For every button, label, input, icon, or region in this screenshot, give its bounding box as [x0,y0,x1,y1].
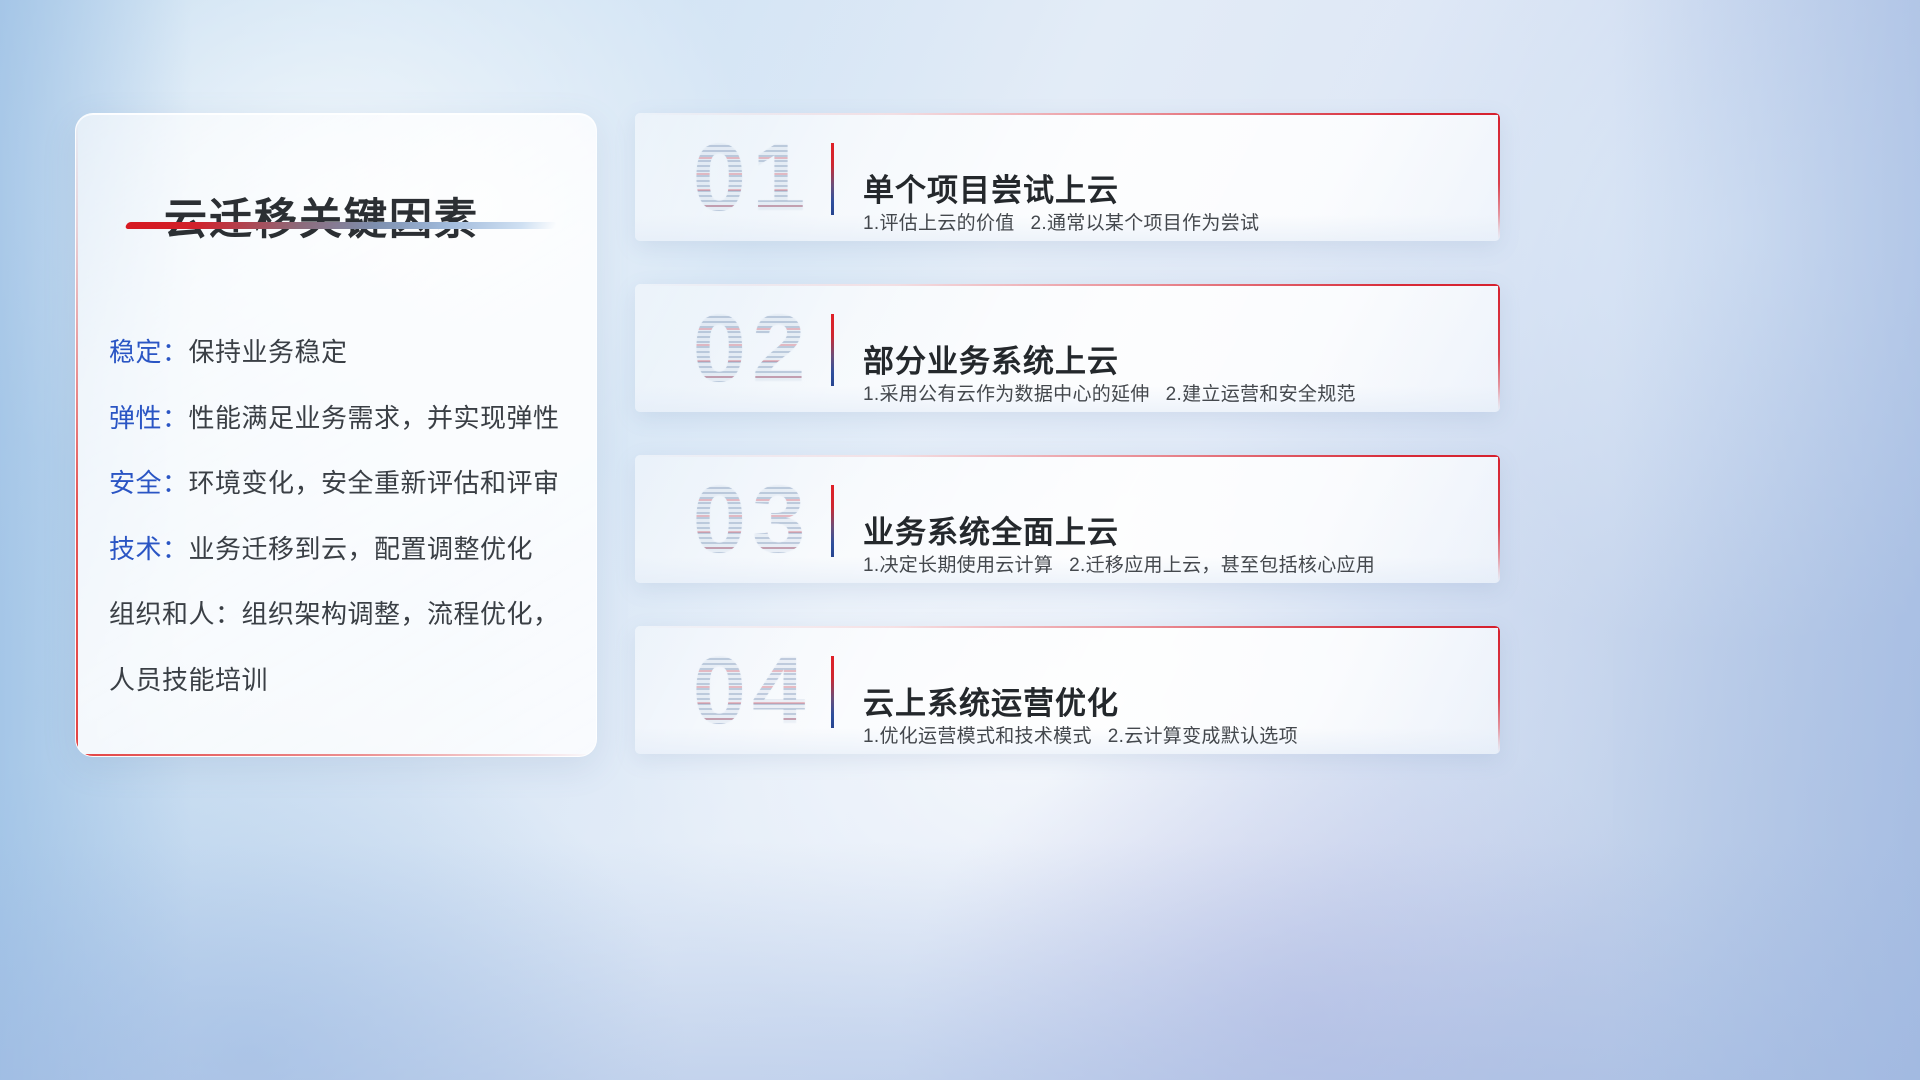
card-accent-bar [831,656,834,728]
list-item-value: 业务迁移到云，配置调整优化 [189,534,534,564]
card-description: 1.采用公有云作为数据中心的延伸2.建立运营和安全规范 [863,379,1356,406]
list-item: 技术：业务迁移到云，配置调整优化 [109,533,576,566]
card-description: 1.评估上云的价值2.通常以某个项目作为尝试 [863,208,1259,235]
stage-card[interactable]: 01 01 01 单个项目尝试上云 1.评估上云的价值2.通常以某个项目作为尝试 [635,113,1500,241]
panel-left-red-edge [76,114,78,756]
stage-card[interactable]: 03 03 03 业务系统全面上云 1.决定长期使用云计算2.迁移应用上云，甚至… [635,455,1500,583]
card-top-red-edge [635,113,1500,115]
card-number-red-accent: 04 [657,638,847,744]
list-item: 弹性：性能满足业务需求，并实现弹性 [109,402,576,435]
card-title: 部分业务系统上云 [863,336,1119,381]
card-top-red-edge [635,626,1500,628]
card-number-red-accent: 01 [657,125,847,231]
list-item-key: 技术： [109,534,189,564]
cloud-journey-stage-cards: 01 01 01 单个项目尝试上云 1.评估上云的价值2.通常以某个项目作为尝试… [635,113,1500,754]
list-item-value: 环境变化，安全重新评估和评审 [189,468,560,498]
card-title: 单个项目尝试上云 [863,165,1119,210]
list-item-value: 组织架构调整，流程优化， [242,599,560,629]
card-description-part-1: 1.评估上云的价值 [863,213,1015,234]
card-description-part-2: 2.通常以某个项目作为尝试 [1031,213,1260,234]
card-description: 1.决定长期使用云计算2.迁移应用上云，甚至包括核心应用 [863,550,1375,577]
card-title: 业务系统全面上云 [863,507,1119,552]
list-item-key: 安全： [109,468,189,498]
key-factors-list: 稳定：保持业务稳定 弹性：性能满足业务需求，并实现弹性 安全：环境变化，安全重新… [109,310,576,696]
page-title: 云迁移关键因素 [164,185,479,247]
list-item: 安全：环境变化，安全重新评估和评审 [109,467,576,500]
card-title: 云上系统运营优化 [863,678,1119,723]
list-item-key: 弹性： [109,403,189,433]
card-top-red-edge [635,455,1500,457]
background-tint-bottom-edge [0,842,1920,1080]
card-description-part-1: 1.决定长期使用云计算 [863,555,1053,576]
card-description-part-2: 2.迁移应用上云，甚至包括核心应用 [1069,555,1375,576]
list-item-value: 人员技能培训 [109,665,268,695]
card-description-part-1: 1.优化运营模式和技术模式 [863,726,1092,747]
card-top-red-edge [635,284,1500,286]
card-description-part-2: 2.云计算变成默认选项 [1108,726,1298,747]
list-item: 人员技能培训 [109,664,576,697]
list-item-value: 保持业务稳定 [189,337,348,367]
title-underline-gradient [125,222,558,229]
card-number-red-accent: 02 [657,296,847,402]
list-item-key: 组织和人： [109,599,242,629]
card-accent-bar [831,485,834,557]
stage-card[interactable]: 02 02 02 部分业务系统上云 1.采用公有云作为数据中心的延伸2.建立运营… [635,284,1500,412]
card-accent-bar [831,143,834,215]
panel-bottom-red-edge [76,754,596,756]
key-factors-panel: 云迁移关键因素 稳定：保持业务稳定 弹性：性能满足业务需求，并实现弹性 安全：环… [75,113,597,757]
stage-card[interactable]: 04 04 04 云上系统运营优化 1.优化运营模式和技术模式2.云计算变成默认… [635,626,1500,754]
list-item-key: 稳定： [109,337,189,367]
card-description-part-1: 1.采用公有云作为数据中心的延伸 [863,384,1150,405]
card-number-red-accent: 03 [657,467,847,573]
list-item: 稳定：保持业务稳定 [109,336,576,369]
list-item: 组织和人：组织架构调整，流程优化， [109,598,576,631]
card-accent-bar [831,314,834,386]
list-item-value: 性能满足业务需求，并实现弹性 [189,403,560,433]
card-description: 1.优化运营模式和技术模式2.云计算变成默认选项 [863,721,1298,748]
card-description-part-2: 2.建立运营和安全规范 [1166,384,1356,405]
